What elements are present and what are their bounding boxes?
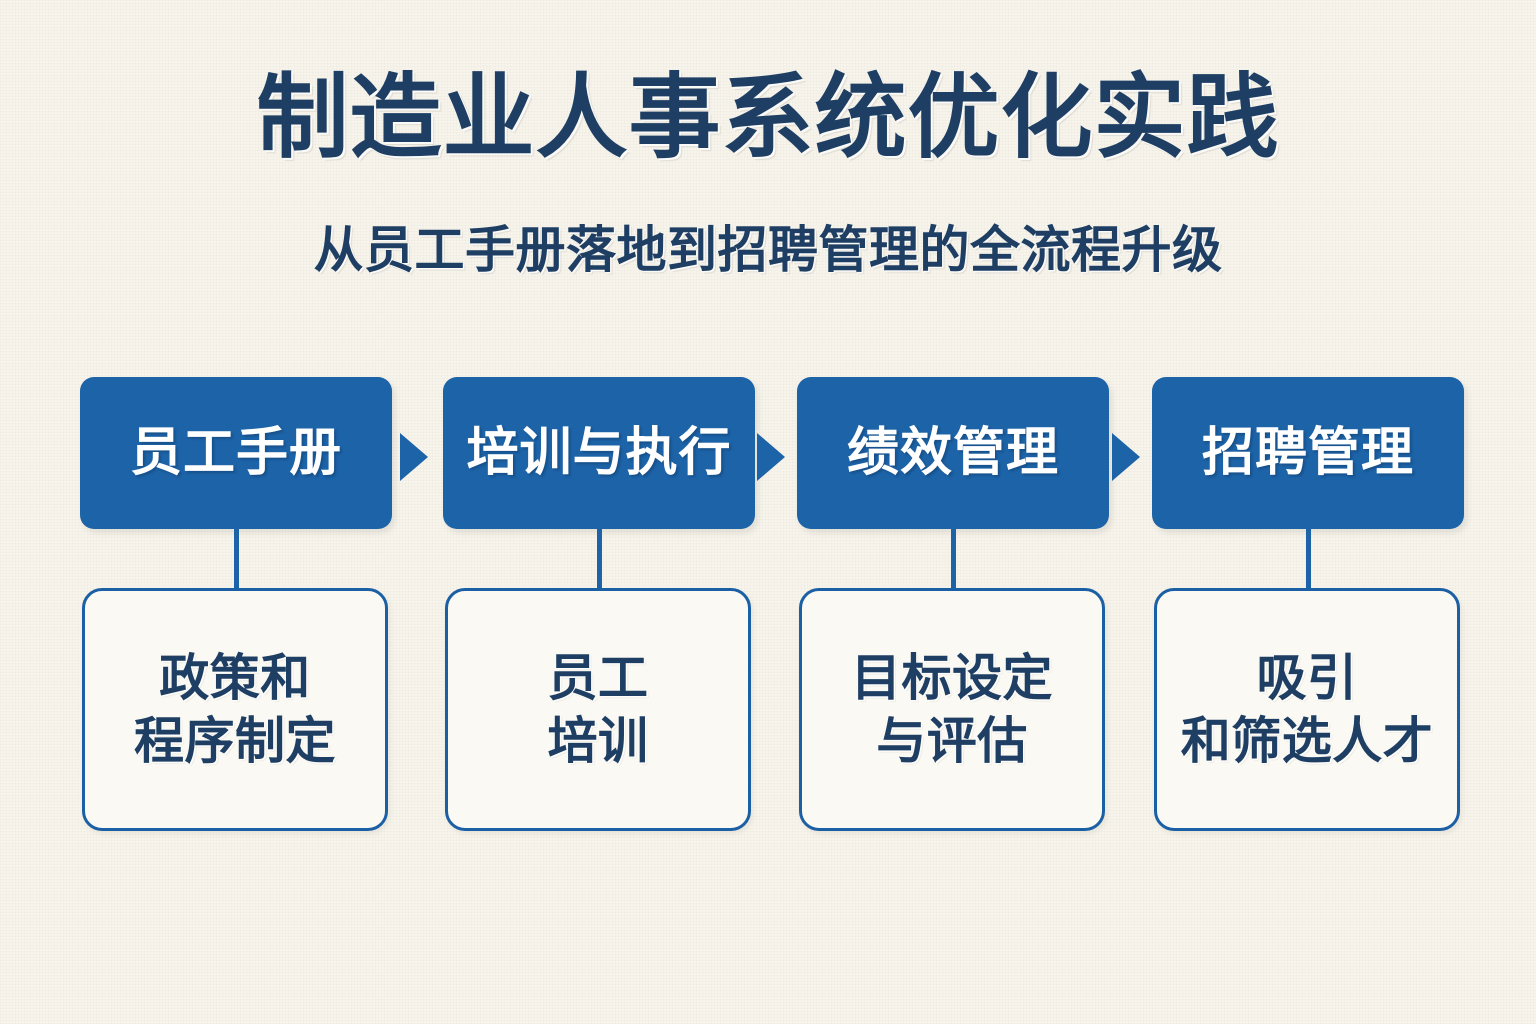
page-subtitle: 从员工手册落地到招聘管理的全流程升级 (0, 225, 1536, 275)
flow-step-pill-1[interactable]: 员工手册 (80, 377, 392, 529)
flow-detail-card-1[interactable]: 政策和程序制定 (82, 588, 388, 831)
arrow-right-triangle-icon (757, 433, 785, 481)
page-title: 制造业人事系统优化实践 (0, 72, 1536, 164)
flow-detail-card-line: 吸引 (1257, 647, 1358, 710)
flow-detail-card-line: 目标设定 (851, 647, 1053, 710)
flow-connector-line-3 (951, 529, 956, 589)
flow-detail-card-line: 培训 (548, 710, 649, 773)
flow-step-pill-4[interactable]: 招聘管理 (1152, 377, 1464, 529)
flow-connector-line-4 (1306, 529, 1311, 589)
flow-step-pill-label: 员工手册 (130, 427, 342, 479)
flow-step-pill-label: 绩效管理 (847, 427, 1059, 479)
flow-step-pill-label: 招聘管理 (1202, 427, 1414, 479)
flow-detail-card-line: 和筛选人才 (1181, 710, 1434, 773)
flow-step-pill-label: 培训与执行 (466, 427, 731, 479)
flow-step-pill-2[interactable]: 培训与执行 (443, 377, 755, 529)
flow-detail-card-line: 政策和 (159, 647, 311, 710)
flow-connector-line-1 (234, 529, 239, 589)
flow-detail-card-2[interactable]: 员工培训 (445, 588, 751, 831)
flow-detail-card-3[interactable]: 目标设定与评估 (799, 588, 1105, 831)
arrow-right-triangle-icon (1112, 433, 1140, 481)
flow-connector-line-2 (597, 529, 602, 589)
flow-detail-card-4[interactable]: 吸引和筛选人才 (1154, 588, 1460, 831)
flow-detail-card-line: 员工 (548, 647, 649, 710)
infographic-canvas: 制造业人事系统优化实践 从员工手册落地到招聘管理的全流程升级 员工手册政策和程序… (0, 0, 1536, 1024)
arrow-right-triangle-icon (400, 433, 428, 481)
flow-step-pill-3[interactable]: 绩效管理 (797, 377, 1109, 529)
flow-detail-card-line: 程序制定 (134, 710, 336, 773)
flow-detail-card-line: 与评估 (876, 710, 1028, 773)
